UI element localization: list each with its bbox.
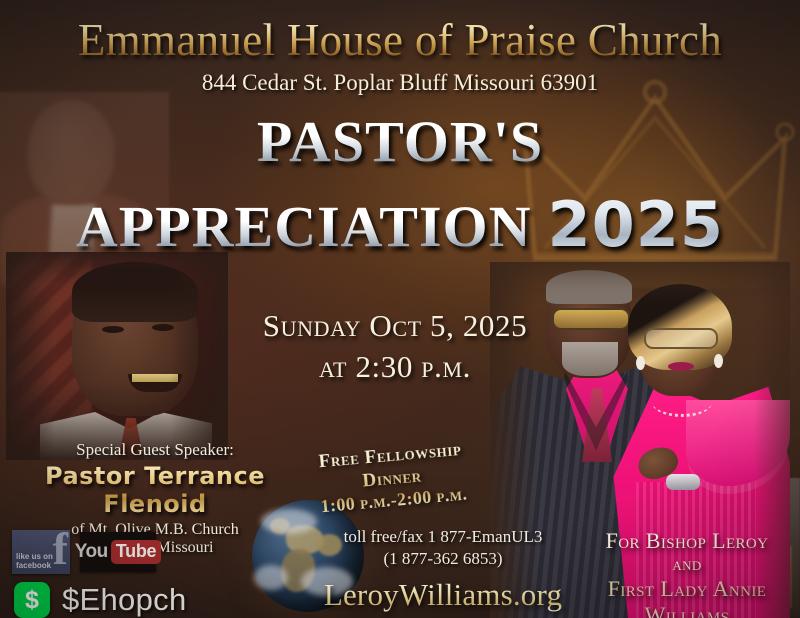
youtube-icon-you: You [75,541,108,563]
church-address: 844 Cedar St. Poplar Bluff Missouri 6390… [0,70,800,96]
cashapp-icon: $ [14,582,50,618]
facebook-icon: f [53,530,68,572]
event-time: at 2:30 p.m. [200,347,590,388]
church-name-heading: Emmanuel House of Praise Church [0,14,800,66]
fellowship-dinner-block: Free Fellowship Dinner 1:00 p.m.-2:00 p.… [299,436,484,520]
honoree-line-3: Williams [578,602,796,618]
guest-speaker-label: Special Guest Speaker: [10,440,300,460]
cashapp-tag: $Ehopch [62,582,186,618]
numeric-phone-number: (1 877-362 6853) [298,548,588,570]
honoree-line-1: For Bishop Leroy [578,528,796,554]
event-date: Sunday Oct 5, 2025 [200,306,590,347]
website-url[interactable]: LeroyWilliams.org [298,577,588,613]
facebook-badge-line-2: facebook [16,561,53,570]
event-title-year: 2025 [548,188,725,261]
event-title-line-1: PASTOR'S [0,108,800,175]
youtube-badge[interactable]: You Tube [80,532,156,572]
guest-speaker-photo [6,252,228,460]
event-title-line-2: APPRECIATION 2025 [0,188,800,261]
facebook-badge[interactable]: like us on facebook f [12,530,70,574]
cashapp-block[interactable]: $ $Ehopch [14,582,186,618]
guest-speaker-name: Pastor Terrance Flenoid [10,462,300,518]
globe-cloud [254,565,288,590]
honoree-and: and [578,554,796,576]
event-flyer: Emmanuel House of Praise Church 844 Ceda… [0,0,800,618]
toll-free-number: toll free/fax 1 877-EmanUL3 [298,526,588,548]
facebook-badge-line-1: like us on [16,552,53,561]
youtube-icon-tube: Tube [111,540,161,564]
speaker-photo-fade [6,252,228,460]
honoree-credit-block: For Bishop Leroy and First Lady Annie Wi… [578,528,796,618]
event-title-word: APPRECIATION [76,193,532,260]
event-datetime: Sunday Oct 5, 2025 at 2:30 p.m. [200,306,590,388]
contact-block: toll free/fax 1 877-EmanUL3 (1 877-362 6… [298,526,588,613]
honoree-line-2: First Lady Annie [578,576,796,602]
facebook-badge-text: like us on facebook [12,552,53,574]
